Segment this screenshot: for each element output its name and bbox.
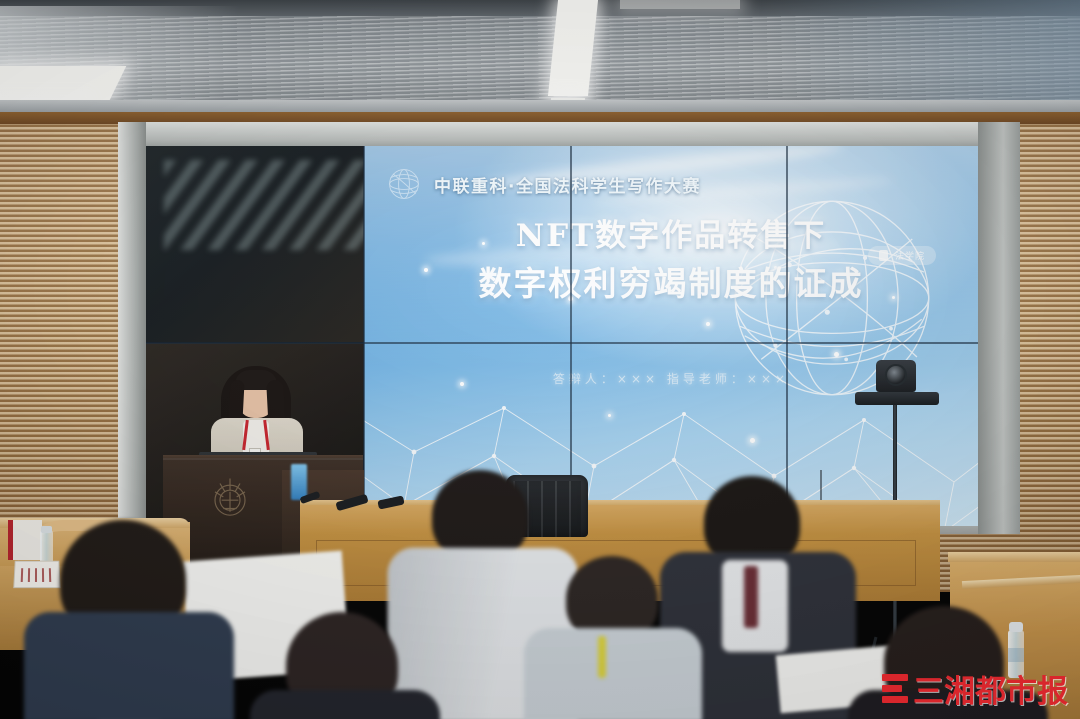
placard-text (21, 568, 56, 582)
watermark-text: 三湘都市报 (913, 666, 1068, 711)
frame-left-bevel (118, 122, 146, 534)
audience-body (524, 628, 702, 719)
bottle-cap (1009, 622, 1023, 632)
camera-lens-icon (885, 364, 907, 386)
slide-title: NFT数字作品转售下 数字权利穷竭制度的证成 (364, 210, 978, 305)
right-desk-top (948, 552, 1080, 562)
court-emblem-icon (205, 470, 255, 522)
panel-seam (786, 146, 788, 526)
panel-seam (363, 146, 365, 526)
bottle-cap (41, 526, 52, 533)
ceiling-light-panel (620, 0, 740, 9)
audience-tie (744, 566, 758, 628)
audience-lanyard (598, 636, 606, 678)
watermark-bar (882, 685, 902, 692)
name-placard (13, 561, 61, 588)
slide-header: 中联重科·全国法科学生写作大赛 (386, 164, 926, 204)
frame-top-bevel (118, 122, 1020, 148)
slide-title-line1: NFT数字作品转售下 (516, 210, 826, 255)
audience-body (250, 690, 440, 719)
panel-seam (146, 342, 978, 344)
ceiling-light-panel (0, 66, 126, 100)
watermark-bar (882, 674, 908, 681)
watermark-bar (882, 696, 908, 703)
audience-body (24, 612, 234, 719)
watermark: 三湘都市报 (882, 666, 1068, 711)
panel-seam (570, 146, 572, 526)
slide-header-text: 中联重科·全国法科学生写作大赛 (434, 172, 701, 197)
document-card (8, 520, 42, 560)
frame-right-bevel (978, 122, 1020, 534)
bottle-label (1008, 648, 1024, 662)
watermark-bars-icon (882, 674, 908, 703)
conference-photo-scene: 法学院 中联重科·全国法科学生写作大赛 NFT数字作品转售下 数字权利穷竭制度的… (0, 0, 1080, 719)
panel-glare (164, 160, 374, 250)
camera-mount-bar (855, 392, 939, 405)
display-panel-off (146, 146, 364, 342)
slide-title-line2: 数字权利穷竭制度的证成 (479, 257, 864, 305)
globe-wireframe-icon (386, 166, 422, 202)
